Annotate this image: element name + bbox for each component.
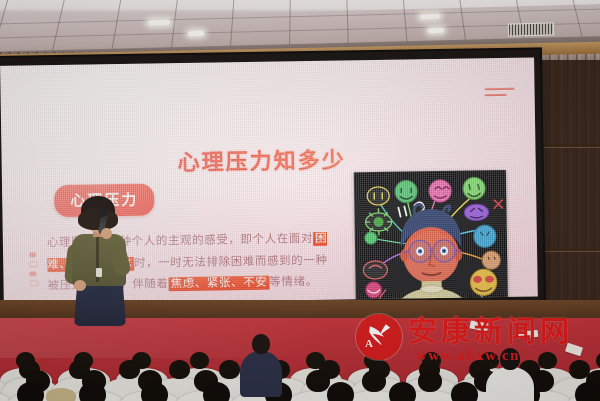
audience-head bbox=[190, 352, 209, 369]
audience-head bbox=[169, 360, 190, 379]
audience-head bbox=[203, 382, 230, 401]
audience-head bbox=[119, 360, 140, 379]
watermark-url: www.akxw.cn bbox=[416, 348, 520, 365]
speaker-id-badge bbox=[96, 268, 102, 277]
audience-head bbox=[219, 360, 240, 379]
audience-cap bbox=[46, 388, 76, 401]
audience-head bbox=[79, 382, 106, 401]
audience-head bbox=[252, 334, 270, 354]
speaker-hand-left bbox=[74, 280, 86, 291]
air-vent-icon bbox=[508, 22, 554, 36]
ceiling-light bbox=[420, 14, 440, 20]
slide-title: 心理压力知多少 bbox=[177, 142, 345, 177]
artwork-image bbox=[354, 170, 508, 305]
ceiling-light bbox=[428, 28, 444, 34]
audience-head bbox=[141, 382, 168, 401]
ceiling-light bbox=[148, 20, 170, 26]
slide-corner-lines-icon bbox=[485, 88, 515, 100]
audience-head bbox=[596, 352, 600, 369]
slide-corner-dots-icon bbox=[29, 252, 39, 290]
speaker-hand-right bbox=[101, 228, 112, 239]
artwork-block: 绘画作品《头脑怪》 bbox=[354, 170, 508, 305]
watermark-logo-letter: A bbox=[365, 338, 373, 350]
watermark: A 安康新闻网 www.akxw.cn bbox=[356, 312, 594, 374]
audience-head bbox=[575, 382, 600, 401]
audience-head bbox=[389, 382, 416, 401]
ceiling-light bbox=[188, 31, 204, 37]
microphone-head-icon bbox=[98, 208, 108, 217]
body-highlight-run: 焦虑、紧张、不安 bbox=[168, 276, 269, 292]
audience-shoulders bbox=[240, 351, 282, 397]
watermark-site-name: 安康新闻网 bbox=[408, 314, 573, 348]
audience-head bbox=[327, 382, 354, 401]
artwork-drawing bbox=[354, 170, 508, 305]
audience-head bbox=[306, 370, 330, 392]
body-plain-run: 等情绪。 bbox=[269, 276, 318, 289]
audience-head bbox=[17, 382, 44, 401]
lecture-photo: 心理压力知多少 心理压力 心理压力是一种个人的主观的感受，即个人在面对困难、挑战… bbox=[0, 0, 600, 401]
audience-head bbox=[451, 382, 478, 401]
